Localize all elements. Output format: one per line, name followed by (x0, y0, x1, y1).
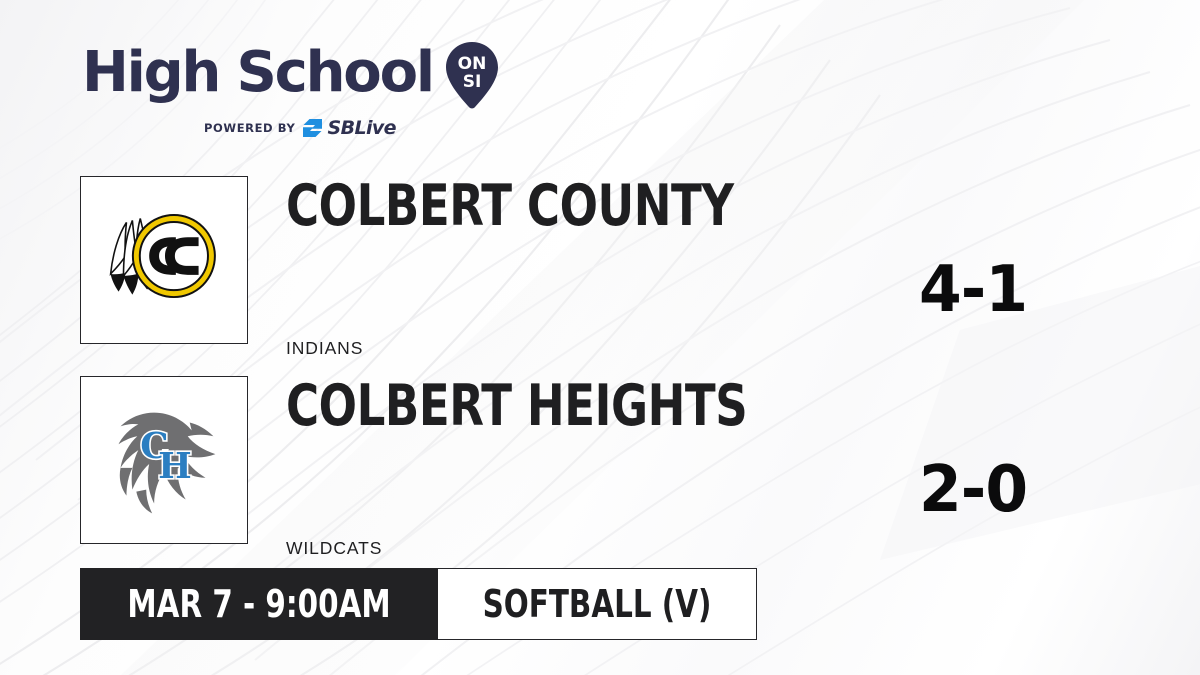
team-name-primary: COLBERT COUNTY (286, 178, 734, 235)
svg-text:H: H (158, 446, 192, 487)
team-name-secondary: COLBERT HEIGHTS (286, 378, 747, 435)
game-preview-graphic: High School ON SI POWERED BY SBLive (0, 0, 1200, 675)
team-logo-colbert-heights: C H (80, 376, 248, 544)
brand-header: High School ON SI POWERED BY SBLive (82, 38, 501, 139)
page-title: High School (82, 45, 433, 101)
sblive-wordmark: SBLive (327, 117, 395, 139)
team-logo-colbert-county (80, 176, 248, 344)
pin-bottom-label: SI (463, 72, 482, 92)
event-datetime-panel: MAR 7 - 9:00AM (80, 568, 438, 640)
colbert-heights-logo-icon: C H (81, 377, 247, 543)
event-info-bar: MAR 7 - 9:00AM SOFTBALL (V) (80, 568, 757, 640)
onsi-pin-icon: ON SI (443, 40, 501, 110)
powered-by-row: POWERED BY SBLive (204, 117, 501, 139)
event-sport-label: SOFTBALL (V) (483, 582, 712, 626)
pin-top-label: ON (458, 54, 487, 74)
powered-by-label: POWERED BY (204, 121, 295, 135)
team-mascot-primary: INDIANS (286, 338, 363, 359)
team-record-secondary: 2-0 (919, 458, 1027, 522)
team-record-primary: 4-1 (919, 258, 1027, 322)
colbert-county-logo-icon (81, 177, 247, 343)
sblive-bolt-icon (302, 118, 324, 138)
team-mascot-secondary: WILDCATS (286, 538, 382, 559)
sblive-logo: SBLive (302, 117, 395, 139)
event-sport-panel: SOFTBALL (V) (438, 568, 757, 640)
brand-title-row: High School ON SI (82, 38, 501, 108)
event-datetime-label: MAR 7 - 9:00AM (127, 582, 390, 626)
